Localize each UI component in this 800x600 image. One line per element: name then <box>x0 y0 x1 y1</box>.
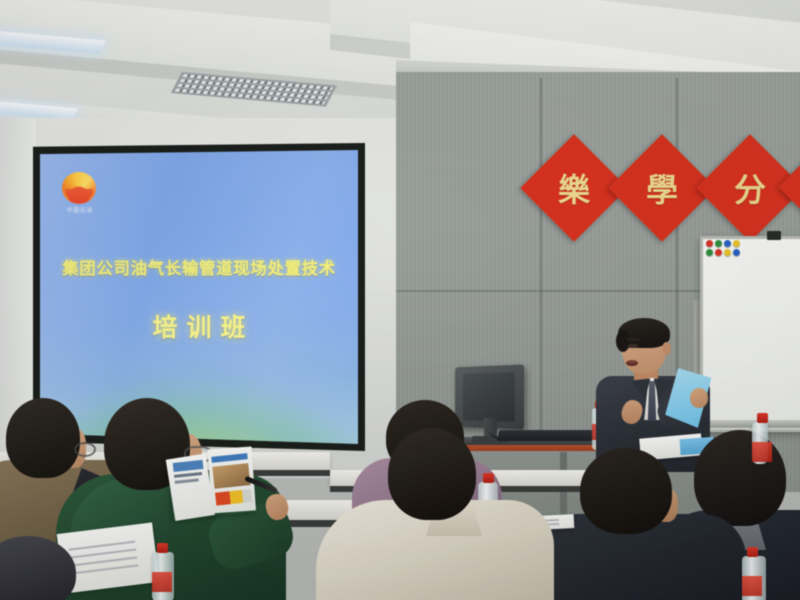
wall-placard-character: 樂 <box>558 165 590 211</box>
attendee-foreground <box>0 536 110 600</box>
slide-title: 集团公司油气长输管道现场处置技术 <box>40 255 358 279</box>
slide-subtitle: 培训班 <box>40 308 358 344</box>
whiteboard-magnet[interactable] <box>733 240 740 247</box>
petrochina-logo: 中国石油 <box>62 172 98 216</box>
whiteboard-clip-icon <box>767 231 781 240</box>
water-bottle[interactable] <box>152 552 174 600</box>
presenter-eye <box>628 344 638 348</box>
attendee-head <box>388 428 476 520</box>
bottle-label <box>152 572 172 592</box>
attendee-head <box>0 536 76 600</box>
whiteboard[interactable]: 一 和 1 P4 <box>700 236 800 432</box>
presenter-hand-right <box>690 388 708 408</box>
presenter-eyebrow <box>627 338 640 341</box>
petrochina-logo-text: 中国石油 <box>62 206 98 214</box>
wall-placard-character: 學 <box>646 165 678 211</box>
petrochina-logo-mark <box>62 172 96 204</box>
brochure-photo <box>212 463 250 489</box>
bottle-cap <box>747 547 758 557</box>
water-bottle[interactable] <box>752 422 768 464</box>
attendee-head <box>580 448 672 534</box>
bottle-cap <box>157 543 168 553</box>
bottle-label <box>742 576 762 596</box>
whiteboard-magnet[interactable] <box>724 240 731 247</box>
printed-brochure[interactable] <box>167 446 257 520</box>
water-bottle[interactable] <box>742 556 766 600</box>
whiteboard-magnet[interactable] <box>706 240 713 247</box>
bottle-cap <box>757 413 768 423</box>
whiteboard-magnet[interactable] <box>715 240 722 247</box>
wall-placard-character: 分 <box>734 165 766 211</box>
whiteboard-magnet[interactable] <box>724 249 731 256</box>
presenter-ear <box>662 342 671 355</box>
attendee-cream-jacket <box>330 428 560 600</box>
whiteboard-magnet[interactable] <box>733 249 740 256</box>
conference-room-photo: 中国石油 集团公司油气长输管道现场处置技术 培训班 樂 學 分 享 一 和 1 … <box>0 0 800 600</box>
whiteboard-magnet[interactable] <box>706 249 713 256</box>
presenter-mouth <box>626 360 638 366</box>
whiteboard-magnet[interactable] <box>715 249 722 256</box>
bottle-label <box>752 442 772 462</box>
